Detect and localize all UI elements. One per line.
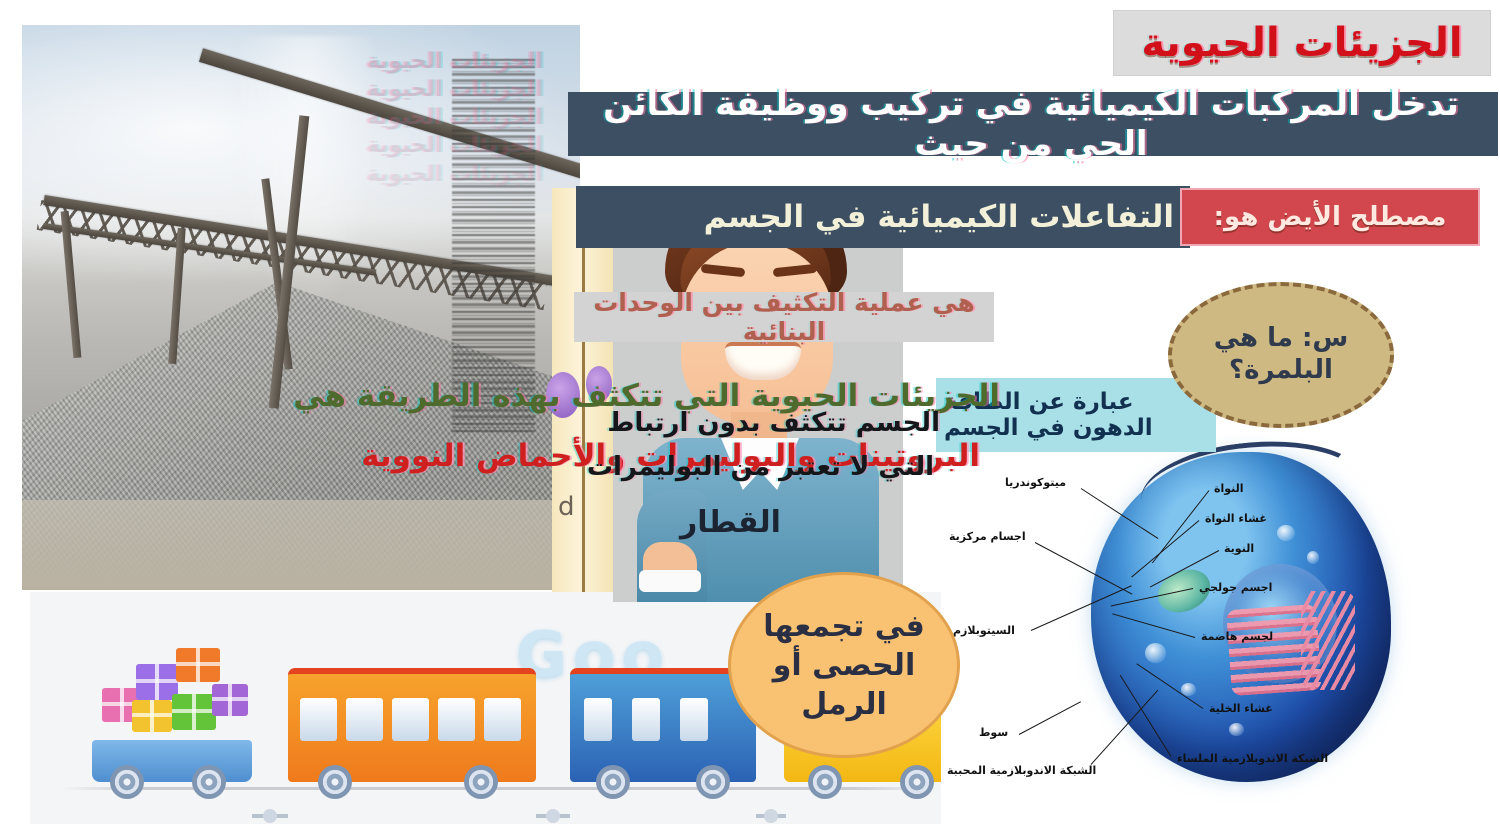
endoplasmic-reticulum-shape [1301,591,1355,690]
gift-box [172,694,216,730]
cell-label-leader-line [1019,701,1081,735]
carriage-window [484,698,521,741]
carriage-wheel [900,765,934,799]
cell-label: النواة [1214,482,1244,495]
cart-wheel [192,765,226,799]
vesicle [1229,723,1244,736]
question-bubble: س: ما هي البلمرة؟ [1168,282,1394,428]
carriage-window [300,698,337,741]
carriage-body [288,668,536,782]
vesicle [1307,551,1319,564]
gift-box [212,684,248,716]
cell-label: اجسم جولجي [1199,581,1272,594]
purple-blob [586,366,612,402]
character-cuff [639,570,701,592]
cart-wheel [110,765,144,799]
cartoon-teacher-illustration [613,190,903,602]
gift-box [132,700,172,732]
strip-pole [582,188,585,592]
cell-label: اجسام مركزية [949,530,1026,543]
carriage-wheel [318,765,352,799]
metabolism-badge: مصطلح الأيض هو: [1180,188,1480,246]
train-hitch [536,814,570,818]
cell-label: غشاء الخلية [1209,702,1273,715]
carriage-window [584,698,612,741]
cell-label: الشبكة الاندوبلازمية المحببة [947,764,1096,777]
cyan-line-1: عبارة عن الطاقة [944,389,1134,415]
strip-letter: d [558,492,575,522]
cell-label: الشبكة الاندوبلازمية الملساء [1177,752,1328,765]
quarry-photo [22,25,580,590]
carriage-body [570,668,756,782]
vesicle [1145,643,1166,663]
carriage-window [346,698,383,741]
carriage-wheel [696,765,730,799]
train-hitch [756,814,786,818]
carriage-window [392,698,429,741]
reactions-banner: التفاعلات الكيميائية في الجسم [576,186,1190,248]
falling-gravel-stream [452,59,536,432]
train-gift-cart [92,740,252,782]
carriage-window [632,698,660,741]
carriage-window [438,698,475,741]
train-carriage-orange [288,668,536,782]
cell-label: لجسم هاضمة [1201,630,1273,643]
animal-cell-diagram: النواةغشاء النواةالنويةاجسم جولجيلجسم ها… [941,434,1497,828]
slide-collage: الجزيئات الحيويةالجزيئات الحيويةالجزيئات… [0,0,1500,830]
purple-blob [546,372,580,418]
cell-label: السيتوبلازم [953,624,1015,637]
gift-box [176,648,220,682]
train-carriage-blue [570,668,756,782]
cell-label: سوط [979,726,1008,739]
cyan-line-2: الدهون في الجسم [944,415,1153,441]
carriage-wheel [808,765,842,799]
quarry-ground [22,500,580,590]
carriage-wheel [596,765,630,799]
cell-label: ميتوكوندريا [1005,476,1066,489]
answer-bubble: في تجمعها الحصى أو الرمل [728,572,960,758]
cyan-info-band: عبارة عن الطاقة الدهون في الجسم [936,378,1216,452]
condensation-banner: هي عملية التكثيف بين الوحدات البنائية [574,292,994,342]
subtitle-banner: تدخل المركبات الكيميائية في تركيب ووظيفة… [568,92,1498,156]
cell-label: غشاء النواة [1205,512,1267,525]
train-hitch [252,814,288,818]
page-title: الجزيئات الحيوية [1113,10,1491,76]
carriage-window [680,698,708,741]
carriage-wheel [464,765,498,799]
cell-label: النوية [1224,542,1254,555]
